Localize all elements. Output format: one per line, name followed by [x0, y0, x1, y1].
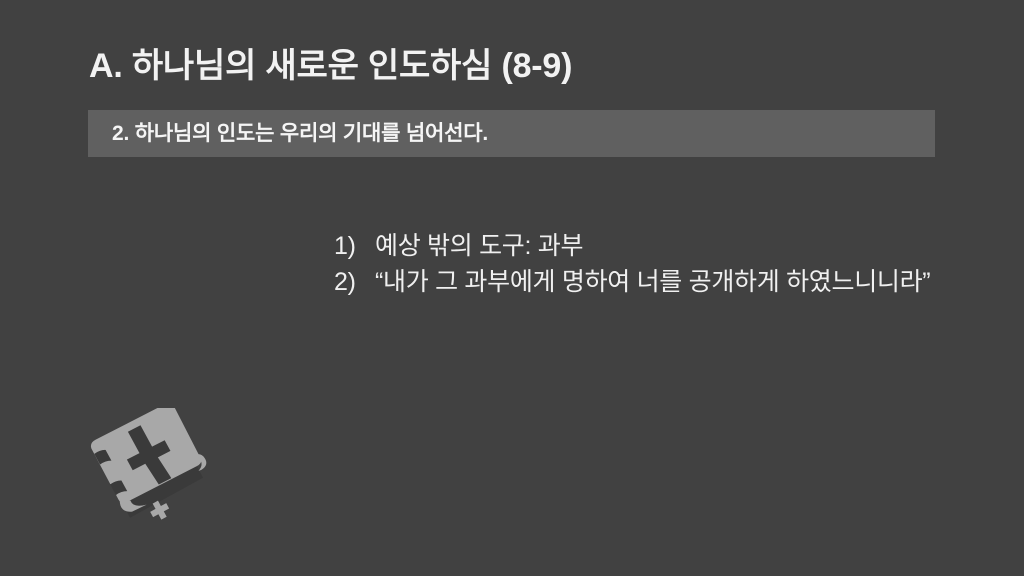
list-item-marker: 2): [334, 264, 375, 300]
subtitle-banner: 2. 하나님의 인도는 우리의 기대를 넘어선다.: [88, 110, 935, 157]
list-item-text: 예상 밖의 도구: 과부: [375, 228, 934, 264]
list-item: 1) 예상 밖의 도구: 과부: [334, 228, 934, 264]
slide-title: A. 하나님의 새로운 인도하심 (8-9): [89, 45, 969, 87]
list-item-marker: 1): [334, 228, 375, 264]
slide-canvas: A. 하나님의 새로운 인도하심 (8-9) 2. 하나님의 인도는 우리의 기…: [0, 0, 1024, 576]
body-list: 1) 예상 밖의 도구: 과부 2) “내가 그 과부에게 명하여 너를 공개하…: [334, 228, 934, 300]
subtitle-text: 2. 하나님의 인도는 우리의 기대를 넘어선다.: [88, 121, 488, 147]
list-item: 2) “내가 그 과부에게 명하여 너를 공개하게 하였느니니라”: [334, 264, 934, 300]
list-item-text: “내가 그 과부에게 명하여 너를 공개하게 하였느니니라”: [375, 264, 934, 300]
bible-book-glyph: [86, 408, 218, 534]
bible-book-icon: [86, 408, 218, 534]
